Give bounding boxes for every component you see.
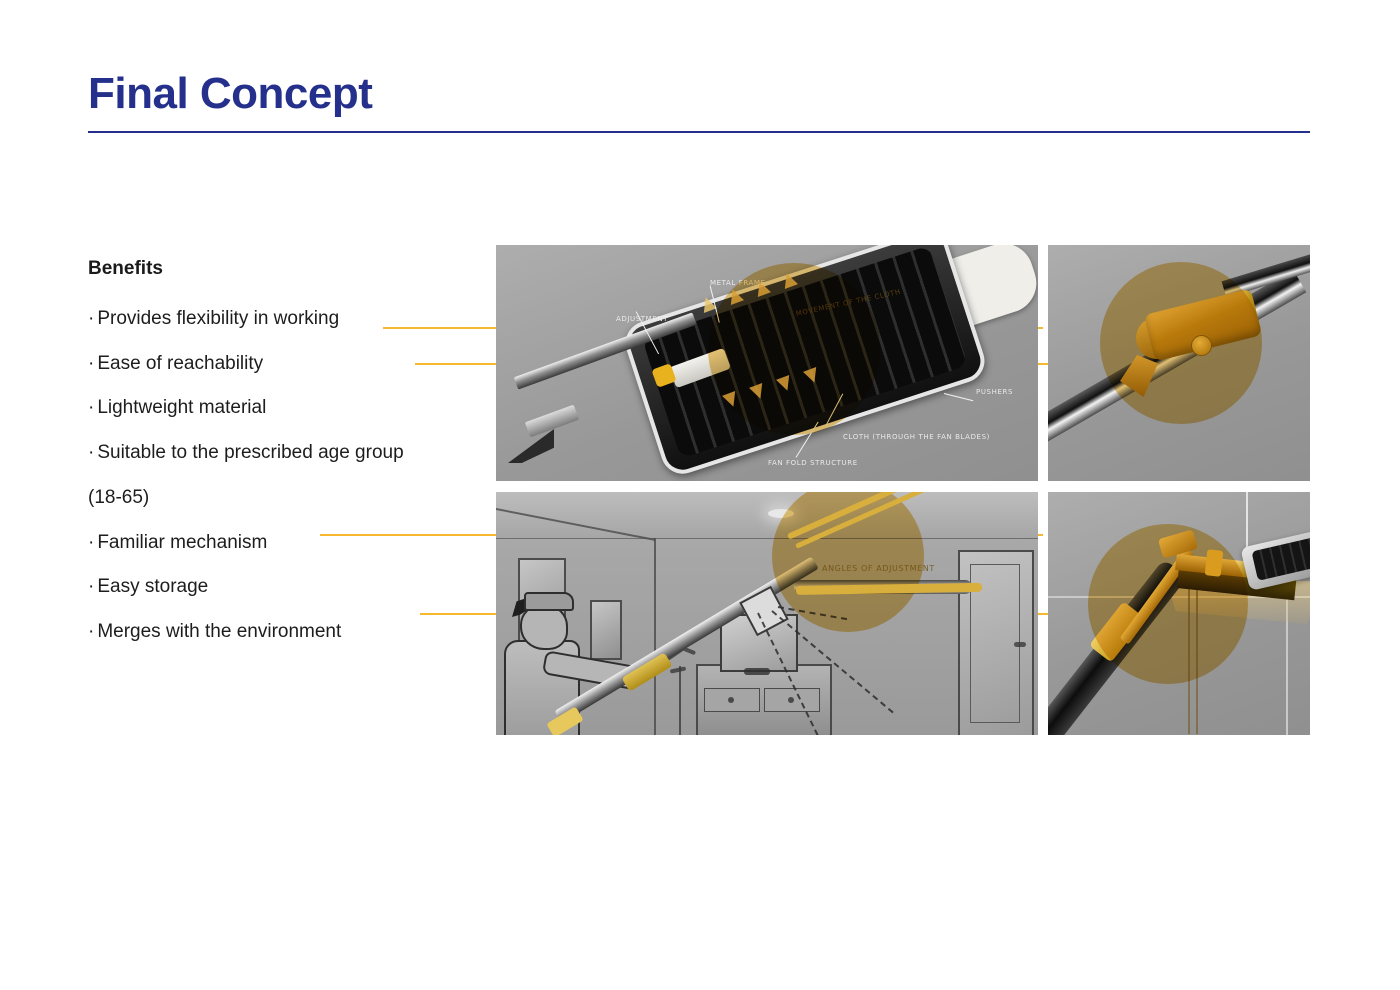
benefits-panel: Benefits ·Provides flexibility in workin… [88, 258, 488, 665]
panel-usage-scene[interactable]: ANGLES OF ADJUSTMENT [496, 492, 1038, 735]
panel-exploded-device-sketch[interactable]: ADJUSTMENT METAL FRAME MOVEMENT OF THE C… [496, 245, 1038, 481]
page-title: Final Concept [88, 70, 372, 118]
annotation-adjustment: ADJUSTMENT [616, 315, 668, 323]
highlight-circle [1100, 262, 1262, 424]
list-item-label: Ease of reachability [97, 353, 263, 374]
list-item-label: (18-65) [88, 487, 149, 508]
list-item: ·Easy storage [88, 575, 488, 599]
highlight-circle [708, 263, 880, 435]
highlight-circle [1088, 524, 1248, 684]
bullet-glyph: · [88, 575, 94, 599]
list-item-label: Lightweight material [97, 397, 266, 418]
list-item: ·Lightweight material [88, 396, 488, 420]
plant-leaf [670, 666, 686, 673]
drawer-knob [788, 697, 794, 703]
plant-stem [679, 666, 681, 735]
benefits-heading: Benefits [88, 258, 488, 281]
panel-clamp-closeup[interactable] [1048, 492, 1310, 735]
panel-joint-closeup[interactable] [1048, 245, 1310, 481]
annotation-cloth: CLOTH (THROUGH THE FAN BLADES) [843, 433, 990, 441]
annotation-angles-of-adjustment: ANGLES OF ADJUSTMENT [822, 564, 935, 573]
list-item-label: Familiar mechanism [97, 532, 267, 553]
bullet-glyph: · [88, 396, 94, 420]
tv-stand [744, 668, 770, 675]
list-item-label: Provides flexibility in working [97, 308, 339, 329]
room-ceiling [496, 492, 1038, 539]
drawer-knob [728, 697, 734, 703]
bullet-glyph: · [88, 307, 94, 331]
annotation-fan-fold-structure: FAN FOLD STRUCTURE [768, 459, 858, 467]
person-cap [524, 592, 574, 611]
list-item-continuation: (18-65) [88, 486, 488, 510]
list-item-label: Merges with the environment [97, 621, 341, 642]
list-item: ·Merges with the environment [88, 620, 488, 644]
list-item-label: Easy storage [97, 576, 208, 597]
bullet-glyph: · [88, 352, 94, 376]
bullet-glyph: · [88, 620, 94, 644]
room-corner-line [654, 538, 656, 735]
wall-picture-frame [590, 600, 622, 660]
list-item-label: Suitable to the prescribed age group [97, 442, 403, 463]
bullet-glyph: · [88, 531, 94, 555]
list-item: ·Suitable to the prescribed age group [88, 441, 488, 465]
annotation-pushers: PUSHERS [976, 388, 1013, 396]
concept-image-grid: ADJUSTMENT METAL FRAME MOVEMENT OF THE C… [496, 245, 1310, 735]
door-handle [1014, 642, 1026, 647]
bullet-glyph: · [88, 441, 94, 465]
title-divider [88, 131, 1310, 133]
